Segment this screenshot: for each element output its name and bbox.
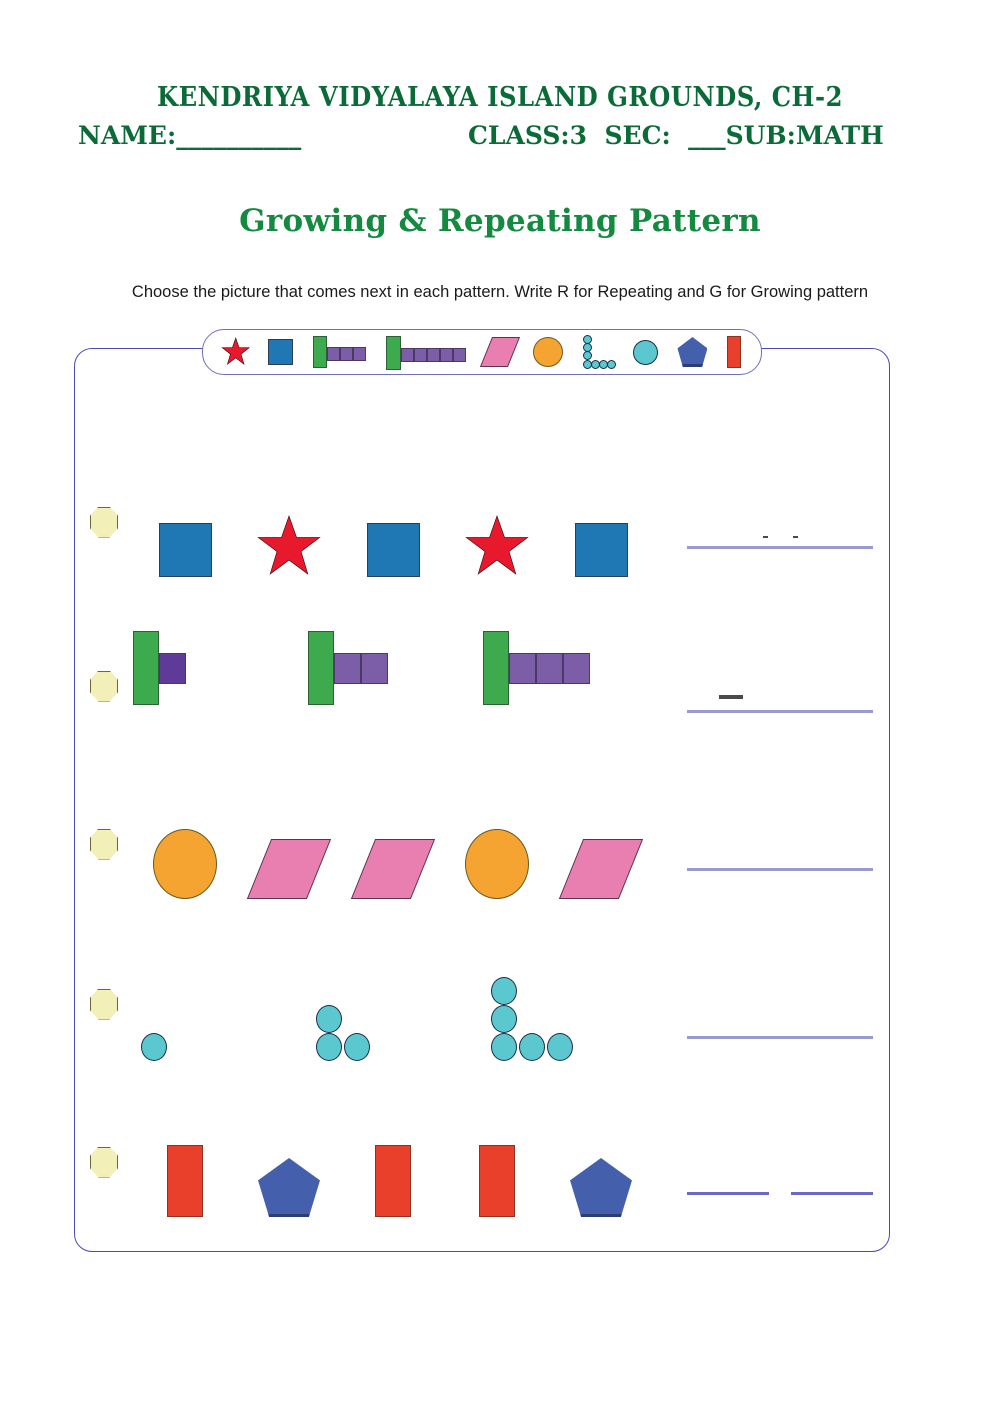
dot-cluster-3 — [316, 971, 372, 1059]
answer-line-1[interactable] — [687, 546, 873, 549]
bank-item-blue-square[interactable] — [268, 333, 293, 371]
shape-dots-1 — [133, 971, 316, 1059]
answer-mark — [719, 695, 743, 699]
row-bullet-3 — [75, 829, 133, 860]
row-5-sequence — [133, 1107, 653, 1217]
answer-slot-3[interactable] — [687, 789, 873, 899]
pattern-row-1 — [75, 467, 889, 577]
shape-dots-6 — [491, 971, 666, 1059]
row-3-sequence — [133, 789, 653, 899]
school-title: KENDRIYA VIDYALAYA ISLAND GROUNDS, CH-2 — [0, 82, 1000, 113]
bank-item-cyan-dot-cluster[interactable] — [583, 333, 613, 371]
shape-red-star — [237, 517, 341, 577]
cyan-dot-cluster-icon — [583, 335, 613, 369]
shape-blue-square — [133, 523, 237, 577]
shape-red-rectangle — [445, 1145, 549, 1217]
octagon-bullet-icon — [90, 671, 118, 702]
name-field-label[interactable]: NAME:__________ — [78, 121, 301, 150]
shape-orange-ellipse — [445, 829, 549, 899]
shape-green-bar-3-purple — [483, 631, 658, 705]
shape-orange-ellipse — [133, 829, 237, 899]
blue-square-icon — [268, 339, 293, 365]
bank-item-green-bar-5[interactable] — [386, 333, 466, 371]
cyan-circle-icon — [633, 340, 658, 365]
shape-blue-pentagon — [549, 1158, 653, 1217]
answer-mark — [763, 536, 768, 538]
row-bullet-4 — [75, 989, 133, 1020]
row-bullet-5 — [75, 1147, 133, 1178]
octagon-bullet-icon — [90, 989, 118, 1020]
bank-item-orange-ellipse[interactable] — [533, 333, 563, 371]
answer-mark — [793, 536, 798, 538]
row-2-sequence — [133, 631, 658, 741]
shape-red-rectangle — [341, 1145, 445, 1217]
worksheet-header: KENDRIYA VIDYALAYA ISLAND GROUNDS, CH-2 … — [0, 0, 1000, 239]
orange-ellipse-icon — [533, 337, 563, 367]
student-meta-row: NAME:__________ CLASS:3 SEC: ___SUB:MATH — [0, 121, 1000, 155]
shape-blue-square — [549, 523, 653, 577]
bank-item-red-rectangle[interactable] — [727, 333, 741, 371]
shape-green-bar-2-purple — [308, 631, 483, 705]
bank-item-cyan-circle[interactable] — [633, 333, 658, 371]
pattern-frame — [74, 348, 890, 1252]
red-rectangle-icon — [727, 336, 741, 368]
shape-blue-pentagon — [237, 1158, 341, 1217]
red-star-icon — [223, 339, 249, 365]
bank-item-blue-pentagon[interactable] — [677, 333, 707, 371]
instruction-text: Choose the picture that comes next in ea… — [0, 283, 1000, 302]
shape-red-rectangle — [133, 1145, 237, 1217]
bank-item-pink-parallelogram[interactable] — [486, 333, 514, 371]
bank-item-green-bar-3[interactable] — [313, 333, 366, 371]
shape-pink-parallelogram — [237, 839, 341, 899]
row-4-sequence — [133, 949, 666, 1059]
answer-line-2[interactable] — [687, 710, 873, 713]
shape-red-star — [445, 517, 549, 577]
pattern-row-2 — [75, 631, 889, 741]
green-bar-5-purple-icon — [386, 336, 466, 368]
answer-line-4[interactable] — [687, 1036, 873, 1039]
worksheet-title: Growing & Repeating Pattern — [0, 203, 1000, 239]
shape-pink-parallelogram — [549, 839, 653, 899]
answer-slot-1[interactable] — [687, 467, 873, 577]
row-1-sequence — [133, 467, 653, 577]
shape-pink-parallelogram — [341, 839, 445, 899]
octagon-bullet-icon — [90, 1147, 118, 1178]
pattern-row-3 — [75, 789, 889, 899]
row-bullet-1 — [75, 507, 133, 538]
pink-parallelogram-icon — [480, 337, 520, 367]
answer-line-5[interactable] — [687, 1192, 873, 1195]
shape-green-bar-1-purple — [133, 631, 308, 705]
class-sec-sub-label[interactable]: CLASS:3 SEC: ___SUB:MATH — [468, 121, 884, 150]
answer-slot-5[interactable] — [687, 1107, 873, 1217]
green-bar-3-purple-icon — [313, 336, 366, 368]
answer-slot-2[interactable] — [687, 631, 873, 741]
octagon-bullet-icon — [90, 507, 118, 538]
dot-cluster-1 — [141, 971, 167, 1059]
answer-slot-4[interactable] — [687, 949, 873, 1059]
answer-bank — [202, 329, 762, 375]
shape-blue-square — [341, 523, 445, 577]
dot-cluster-6 — [491, 971, 575, 1059]
pattern-row-4 — [75, 949, 889, 1059]
row-bullet-2 — [75, 671, 133, 702]
octagon-bullet-icon — [90, 829, 118, 860]
blue-pentagon-icon — [677, 337, 707, 367]
bank-item-red-star[interactable] — [223, 333, 249, 371]
pattern-row-5 — [75, 1107, 889, 1217]
answer-line-3[interactable] — [687, 868, 873, 871]
shape-dots-3 — [316, 971, 491, 1059]
